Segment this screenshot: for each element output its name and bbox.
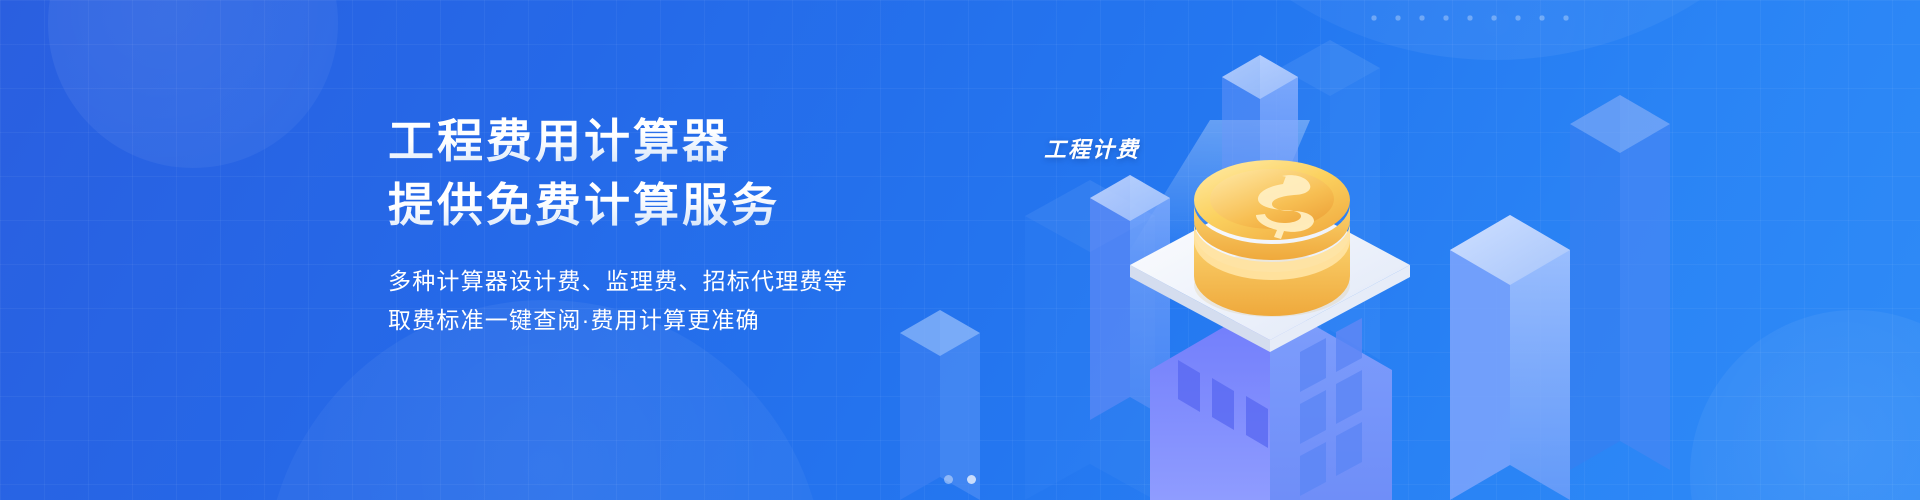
carousel-indicators[interactable] [0, 475, 1920, 484]
coin-stack [1194, 160, 1350, 317]
hero-banner: 工程费用计算器 提供免费计算服务 多种计算器设计费、监理费、招标代理费等 取费标… [0, 0, 1920, 500]
carousel-dot-1[interactable] [944, 475, 953, 484]
background-circle-top-left [48, 0, 338, 168]
illustration [880, 0, 1920, 500]
left-block [900, 310, 980, 500]
illustration-badge-label: 工程计费 [1044, 132, 1140, 164]
isometric-city-illustration [880, 0, 1920, 500]
carousel-dot-2[interactable] [967, 475, 976, 484]
right-towers [1450, 95, 1670, 500]
